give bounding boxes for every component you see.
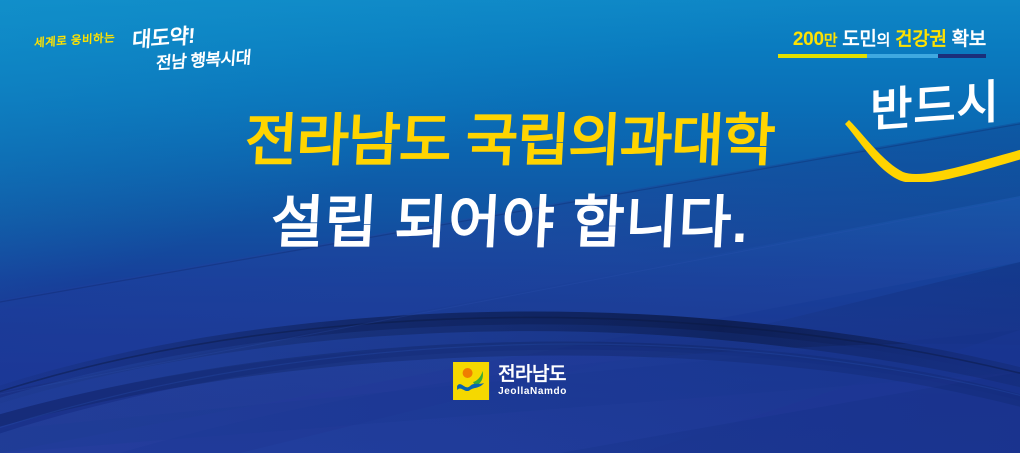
headline-block: 전라남도 국립의과대학 반드시 설립 되어야 합니다.	[0, 112, 1020, 254]
brand-wordmark: 전라남도 JeollaNamdo	[498, 365, 567, 397]
campaign-tagline: 200만 도민의 건강권 확보	[778, 30, 986, 58]
slogan-headline-2: 전남 행복시대	[155, 43, 252, 74]
jeollanamdo-logo: 전라남도 JeollaNamdo	[453, 362, 567, 400]
underline-segment-navy	[938, 54, 986, 58]
headline-line-2: 설립 되어야 합니다.	[0, 194, 1020, 254]
tagline-population-number: 200	[793, 29, 824, 50]
jeollanamdo-emblem-icon	[453, 362, 489, 400]
underline-segment-yellow	[778, 54, 867, 58]
brand-name-ko: 전라남도	[498, 365, 567, 384]
tagline-secure: 확보	[952, 29, 986, 50]
campaign-banner: 세계로 웅비하는 대도약! 전남 행복시대 200만 도민의 건강권 확보 전라…	[0, 0, 1020, 453]
slogan-line-1: 세계로 웅비하는	[34, 29, 116, 51]
tagline-residents-particle: 의	[877, 32, 891, 49]
headline-line-1: 전라남도 국립의과대학 반드시	[245, 112, 774, 172]
headline-primary-text: 전라남도 국립의과대학	[244, 112, 776, 172]
brand-name-en: JeollaNamdo	[498, 387, 567, 397]
underline-segment-lightblue	[867, 54, 938, 58]
headline-emphasis-badge: 반드시	[871, 65, 1001, 140]
tagline-health-right: 건강권	[895, 29, 947, 50]
tagline-residents: 도민	[842, 29, 876, 50]
tagline-text: 200만 도민의 건강권 확보	[778, 30, 986, 49]
tagline-population-unit: 만	[824, 32, 838, 49]
brand-slogan: 세계로 웅비하는 대도약! 전남 행복시대	[28, 22, 288, 80]
tagline-underline	[778, 54, 986, 58]
